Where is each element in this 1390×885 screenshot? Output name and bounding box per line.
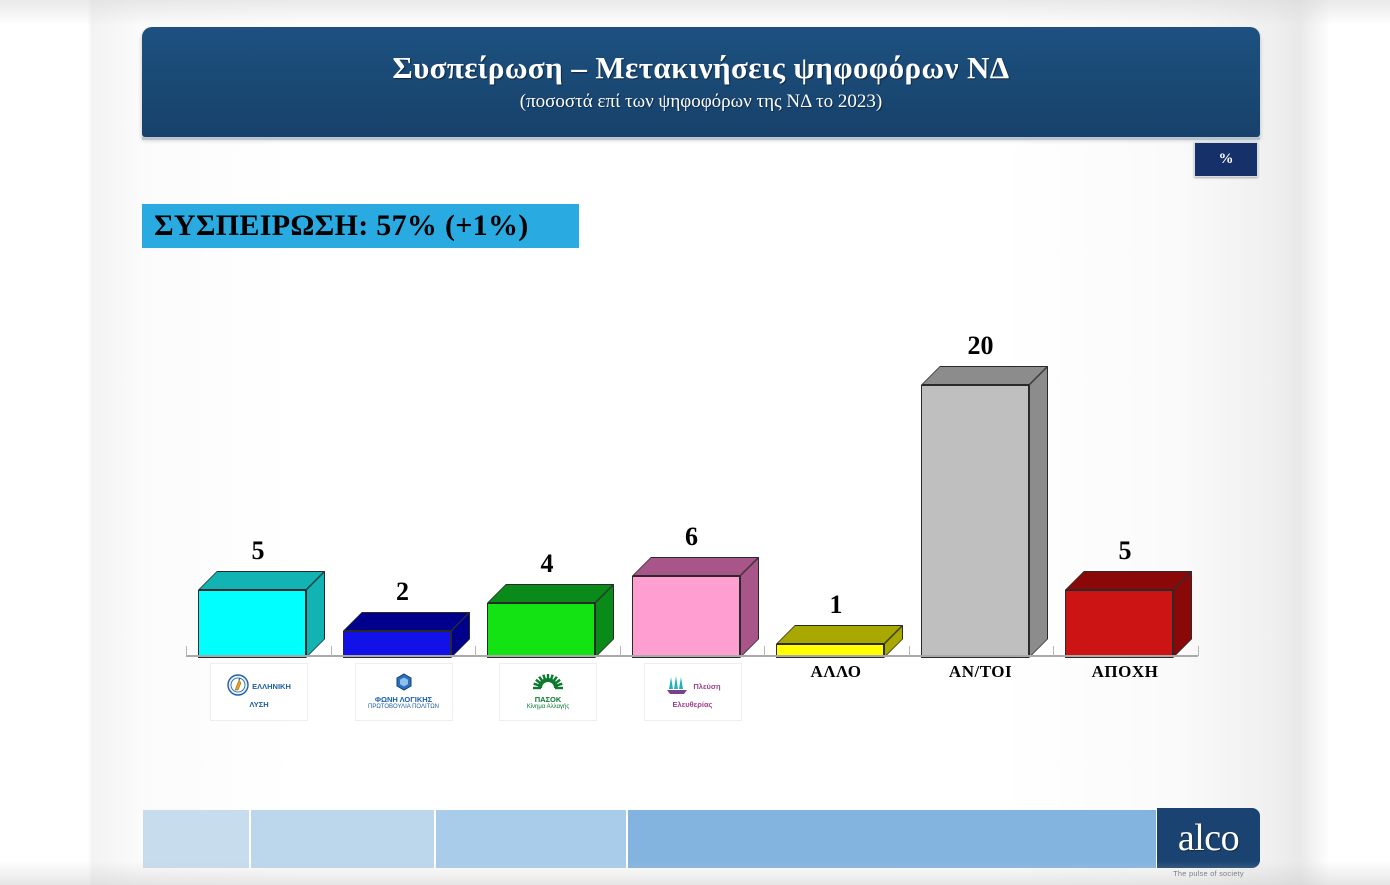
brand-tagline: The pulse of society bbox=[1157, 869, 1260, 878]
bar-front-face bbox=[1065, 590, 1173, 658]
party-logo-sailboat: ΠλεύσηΕλευθερίας bbox=[644, 663, 742, 721]
party-logo-name-2: ΛΥΣΗ bbox=[249, 701, 268, 710]
bar-slot: 20 bbox=[909, 300, 1053, 658]
x-axis-tick bbox=[1053, 646, 1054, 656]
brand-logo: alco bbox=[1157, 808, 1260, 868]
logo-row: Πλεύση bbox=[664, 674, 720, 701]
party-logo-name: Πλεύση bbox=[693, 683, 720, 692]
party-logo-subtitle: ΠΡΩΤΟΒΟΥΛΙΑ ΠΟΛΙΤΩΝ bbox=[368, 704, 439, 711]
x-axis-label-text: ΑΝ/ΤΟΙ bbox=[949, 662, 1012, 681]
percent-badge: % bbox=[1194, 142, 1258, 177]
party-logo-name-2: Ελευθερίας bbox=[673, 701, 713, 710]
bar-front-face bbox=[198, 590, 306, 658]
bar-slot: 4 bbox=[475, 300, 619, 658]
bar-value-label: 20 bbox=[909, 331, 1053, 361]
bar-front-face bbox=[921, 385, 1029, 658]
party-logo-green-sun: ΠΑΣΟΚΚίνημα Αλλαγής bbox=[499, 663, 597, 721]
chart-header-band: Συσπείρωση – Μετακινήσεις ψηφοφόρων ΝΔ (… bbox=[142, 27, 1260, 137]
bar-value-label: 4 bbox=[475, 549, 619, 579]
bar-value-label: 1 bbox=[764, 590, 908, 620]
bar-πασοκ[interactable] bbox=[487, 603, 595, 658]
bar-πλευση-ελευθεριας[interactable] bbox=[632, 576, 740, 658]
bar-front-face bbox=[487, 603, 595, 658]
party-logo-name: ΦΩΝΗ ΛΟΓΙΚΗΣ bbox=[375, 696, 432, 705]
circular-emblem-icon bbox=[227, 674, 249, 701]
bar-value-label: 5 bbox=[1053, 536, 1197, 566]
bar-top-face bbox=[921, 366, 1048, 385]
party-logo-name: ΕΛΛΗΝΙΚΗ bbox=[252, 683, 291, 692]
bar-ελληνικη-λυση[interactable] bbox=[198, 590, 306, 658]
bar-top-face bbox=[776, 625, 903, 644]
bar-slot: 5 bbox=[1053, 300, 1197, 658]
bar-slot: 2 bbox=[331, 300, 475, 658]
header-underline bbox=[142, 137, 1260, 140]
bar-top-face bbox=[343, 612, 470, 631]
bar-slot: 1 bbox=[764, 300, 908, 658]
bar-αποχη[interactable] bbox=[1065, 590, 1173, 658]
x-axis-label: ΑΛΛΟ bbox=[764, 662, 908, 682]
x-axis-line bbox=[186, 655, 1198, 657]
footer-segment bbox=[436, 810, 626, 868]
bar-front-face bbox=[343, 631, 451, 658]
bar-slot: 6 bbox=[620, 300, 764, 658]
cohesion-highlight-box: ΣΥΣΠΕΙΡΩΣΗ: 57% (+1%) bbox=[142, 204, 579, 248]
bar-φωνη-λογικης[interactable] bbox=[343, 631, 451, 658]
bar-top-face bbox=[198, 571, 325, 590]
slide-root: Συσπείρωση – Μετακινήσεις ψηφοφόρων ΝΔ (… bbox=[0, 0, 1390, 885]
x-axis-tick bbox=[186, 646, 187, 656]
bar-value-label: 5 bbox=[186, 536, 330, 566]
x-axis-tick bbox=[909, 646, 910, 656]
page-title: Συσπείρωση – Μετακινήσεις ψηφοφόρων ΝΔ bbox=[392, 51, 1009, 85]
x-axis-label-text: ΑΠΟΧΗ bbox=[1092, 662, 1159, 681]
brand-logo-text: alco bbox=[1178, 819, 1239, 857]
logo-row: ΕΛΛΗΝΙΚΗ bbox=[227, 674, 291, 701]
bar-value-label: 6 bbox=[620, 522, 764, 552]
bar-chart-plot-area: 52461205 bbox=[186, 300, 1196, 658]
x-axis-label-text: ΑΛΛΟ bbox=[811, 662, 862, 681]
x-axis-tick bbox=[764, 646, 765, 656]
bar-value-label: 2 bbox=[331, 577, 475, 607]
party-logo-hexagon: ΦΩΝΗ ΛΟΓΙΚΗΣΠΡΩΤΟΒΟΥΛΙΑ ΠΟΛΙΤΩΝ bbox=[355, 663, 453, 721]
party-logo-circular-emblem: ΕΛΛΗΝΙΚΗΛΥΣΗ bbox=[210, 663, 308, 721]
x-axis-tick bbox=[331, 646, 332, 656]
green-sun-icon bbox=[531, 673, 565, 696]
bar-top-face bbox=[487, 584, 614, 603]
x-axis-tick bbox=[475, 646, 476, 656]
page-subtitle: (ποσοστά επί των ψηφοφόρων της ΝΔ το 202… bbox=[520, 91, 882, 113]
footer-segment bbox=[251, 810, 434, 868]
bar-side-face bbox=[740, 557, 759, 658]
bar-slot: 5 bbox=[186, 300, 330, 658]
x-axis-label: ΑΝ/ΤΟΙ bbox=[909, 662, 1053, 682]
percent-badge-label: % bbox=[1219, 151, 1234, 168]
party-logo-subtitle: Κίνημα Αλλαγής bbox=[527, 704, 570, 711]
bar-top-face bbox=[632, 557, 759, 576]
bar-αν-τοι[interactable] bbox=[921, 385, 1029, 658]
sailboat-icon bbox=[664, 674, 690, 701]
bar-top-face bbox=[1065, 571, 1192, 590]
bar-front-face bbox=[632, 576, 740, 658]
bar-side-face bbox=[1029, 366, 1048, 658]
footer-segment bbox=[628, 810, 1156, 868]
cohesion-label: ΣΥΣΠΕΙΡΩΣΗ: 57% (+1%) bbox=[154, 209, 529, 243]
x-axis-tick bbox=[1198, 646, 1199, 656]
x-axis-label: ΑΠΟΧΗ bbox=[1053, 662, 1197, 682]
footer-segment bbox=[143, 810, 249, 868]
x-axis-tick bbox=[620, 646, 621, 656]
hexagon-icon bbox=[395, 673, 413, 696]
